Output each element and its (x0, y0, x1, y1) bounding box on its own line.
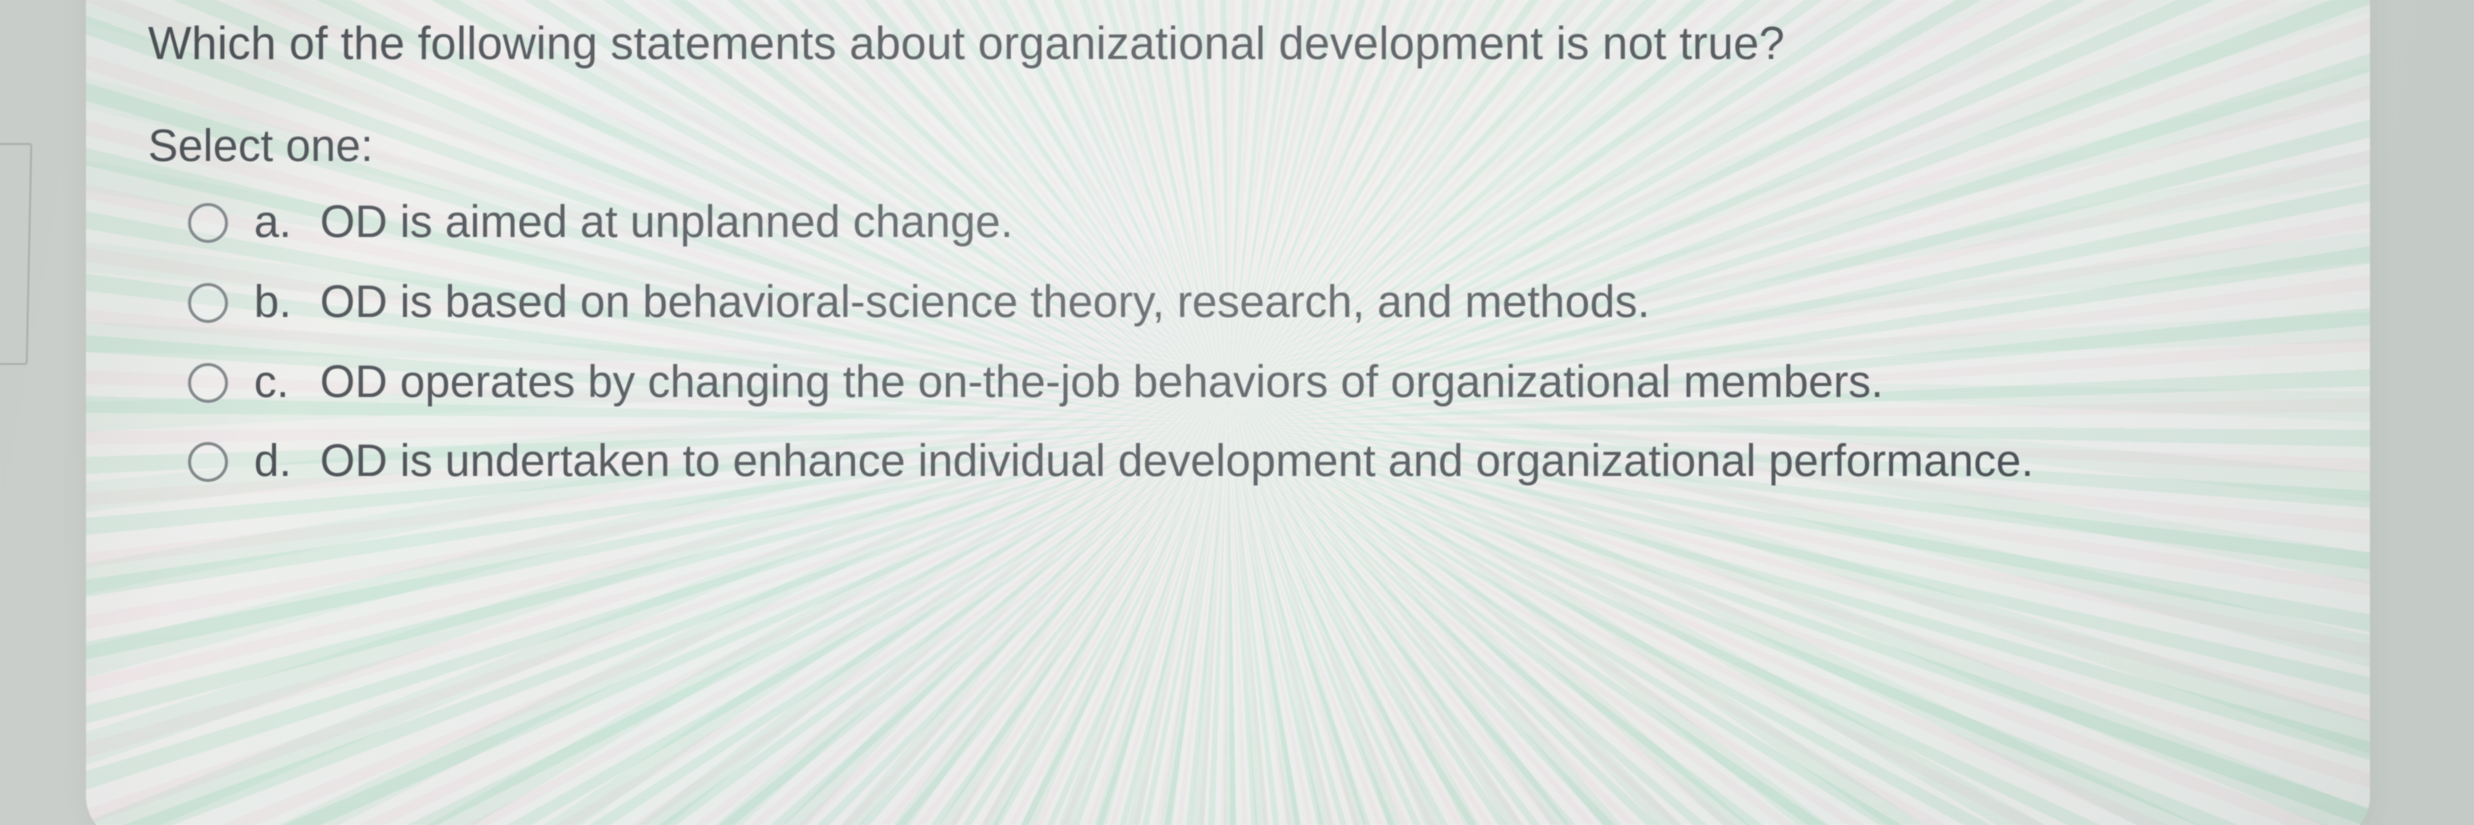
option-text-b[interactable]: OD is based on behavioral-science theory… (320, 272, 2080, 333)
question-content: Which of the following statements about … (86, 0, 2370, 825)
adjacent-panel-outline (0, 143, 32, 365)
answer-option-a[interactable]: a. OD is aimed at unplanned change. (188, 192, 2308, 253)
radio-button-icon-a[interactable] (188, 203, 228, 243)
answer-option-c[interactable]: c. OD operates by changing the on-the-jo… (188, 352, 2308, 413)
radio-button-icon-b[interactable] (188, 283, 228, 323)
answer-options-list: a. OD is aimed at unplanned change. b. O… (188, 192, 2308, 511)
option-text-d[interactable]: OD is undertaken to enhance individual d… (320, 431, 2080, 492)
answer-option-b[interactable]: b. OD is based on behavioral-science the… (188, 272, 2308, 333)
answer-option-d[interactable]: d. OD is undertaken to enhance individua… (188, 431, 2308, 492)
screenshot-photo: Which of the following statements about … (0, 0, 2474, 825)
option-letter-a: a. (254, 192, 320, 251)
option-letter-d: d. (254, 431, 320, 490)
radio-button-icon-d[interactable] (188, 442, 228, 482)
select-one-label: Select one: (148, 120, 373, 172)
option-letter-c: c. (254, 352, 320, 411)
option-letter-b: b. (254, 272, 320, 331)
option-text-c[interactable]: OD operates by changing the on-the-job b… (320, 352, 2080, 413)
question-text: Which of the following statements about … (148, 16, 1785, 70)
option-text-a[interactable]: OD is aimed at unplanned change. (320, 192, 2080, 253)
question-card: Which of the following statements about … (86, 0, 2370, 825)
radio-button-icon-c[interactable] (188, 363, 228, 403)
